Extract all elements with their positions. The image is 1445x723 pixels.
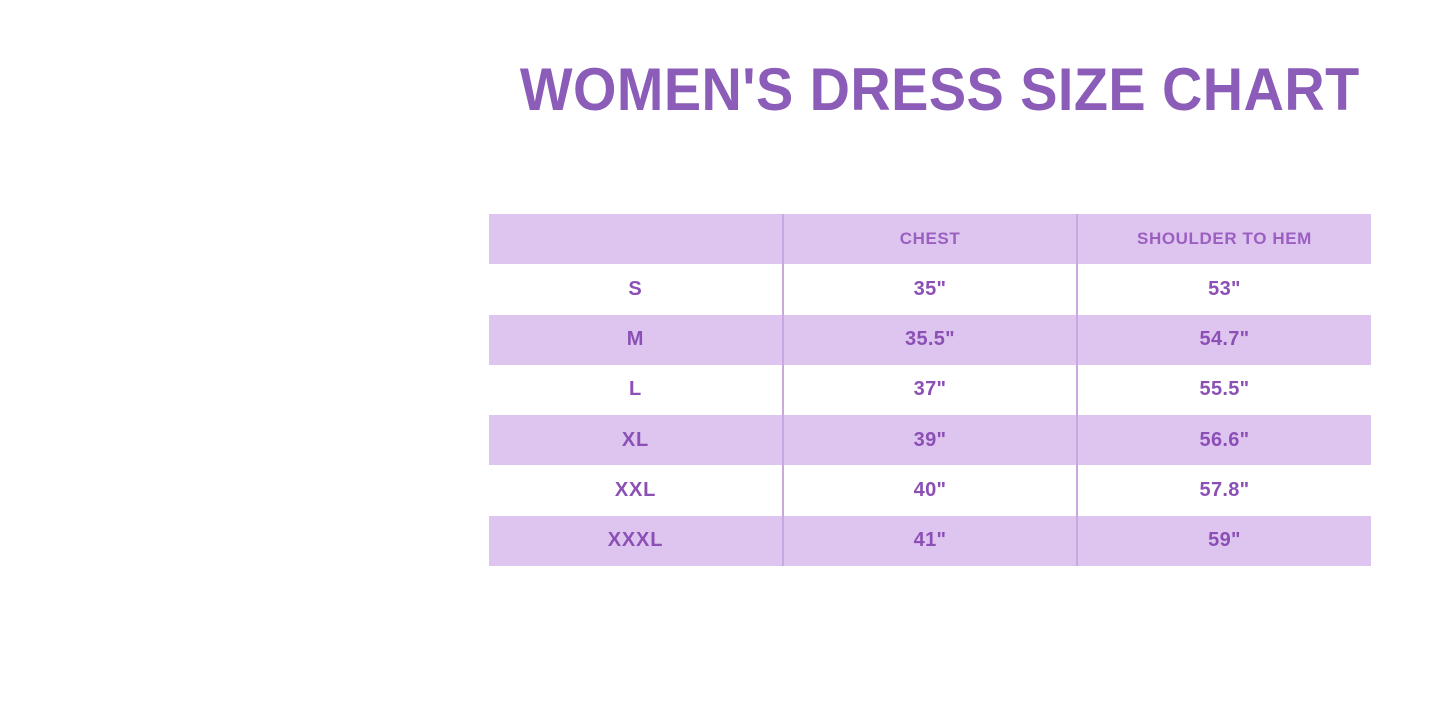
cell-size: M bbox=[489, 315, 783, 365]
table-row: L 37" 55.5" bbox=[489, 365, 1371, 415]
cell-shoulder-to-hem: 57.8" bbox=[1077, 465, 1371, 515]
cell-shoulder-to-hem: 59" bbox=[1077, 516, 1371, 566]
cell-chest: 39" bbox=[783, 415, 1077, 465]
size-chart-container: CHEST SHOULDER TO HEM S 35" 53" M 35.5" … bbox=[489, 214, 1371, 566]
size-chart-table: CHEST SHOULDER TO HEM S 35" 53" M 35.5" … bbox=[489, 214, 1371, 566]
cell-size: S bbox=[489, 264, 783, 314]
cell-chest: 35.5" bbox=[783, 315, 1077, 365]
header-cell-chest: CHEST bbox=[783, 214, 1077, 264]
cell-chest: 35" bbox=[783, 264, 1077, 314]
table-row: XXL 40" 57.8" bbox=[489, 465, 1371, 515]
cell-chest: 37" bbox=[783, 365, 1077, 415]
cell-size: XXXL bbox=[489, 516, 783, 566]
cell-shoulder-to-hem: 55.5" bbox=[1077, 365, 1371, 415]
header-cell-shoulder-to-hem: SHOULDER TO HEM bbox=[1077, 214, 1371, 264]
cell-size: L bbox=[489, 365, 783, 415]
cell-size: XXL bbox=[489, 465, 783, 515]
table-row: S 35" 53" bbox=[489, 264, 1371, 314]
table-row: M 35.5" 54.7" bbox=[489, 315, 1371, 365]
cell-shoulder-to-hem: 56.6" bbox=[1077, 415, 1371, 465]
cell-chest: 41" bbox=[783, 516, 1077, 566]
cell-shoulder-to-hem: 53" bbox=[1077, 264, 1371, 314]
table-row: XXXL 41" 59" bbox=[489, 516, 1371, 566]
table-header-row: CHEST SHOULDER TO HEM bbox=[489, 214, 1371, 264]
table-row: XL 39" 56.6" bbox=[489, 415, 1371, 465]
cell-chest: 40" bbox=[783, 465, 1077, 515]
header-cell-size bbox=[489, 214, 783, 264]
cell-size: XL bbox=[489, 415, 783, 465]
page-title: WOMEN'S DRESS SIZE CHART bbox=[520, 55, 1340, 124]
cell-shoulder-to-hem: 54.7" bbox=[1077, 315, 1371, 365]
